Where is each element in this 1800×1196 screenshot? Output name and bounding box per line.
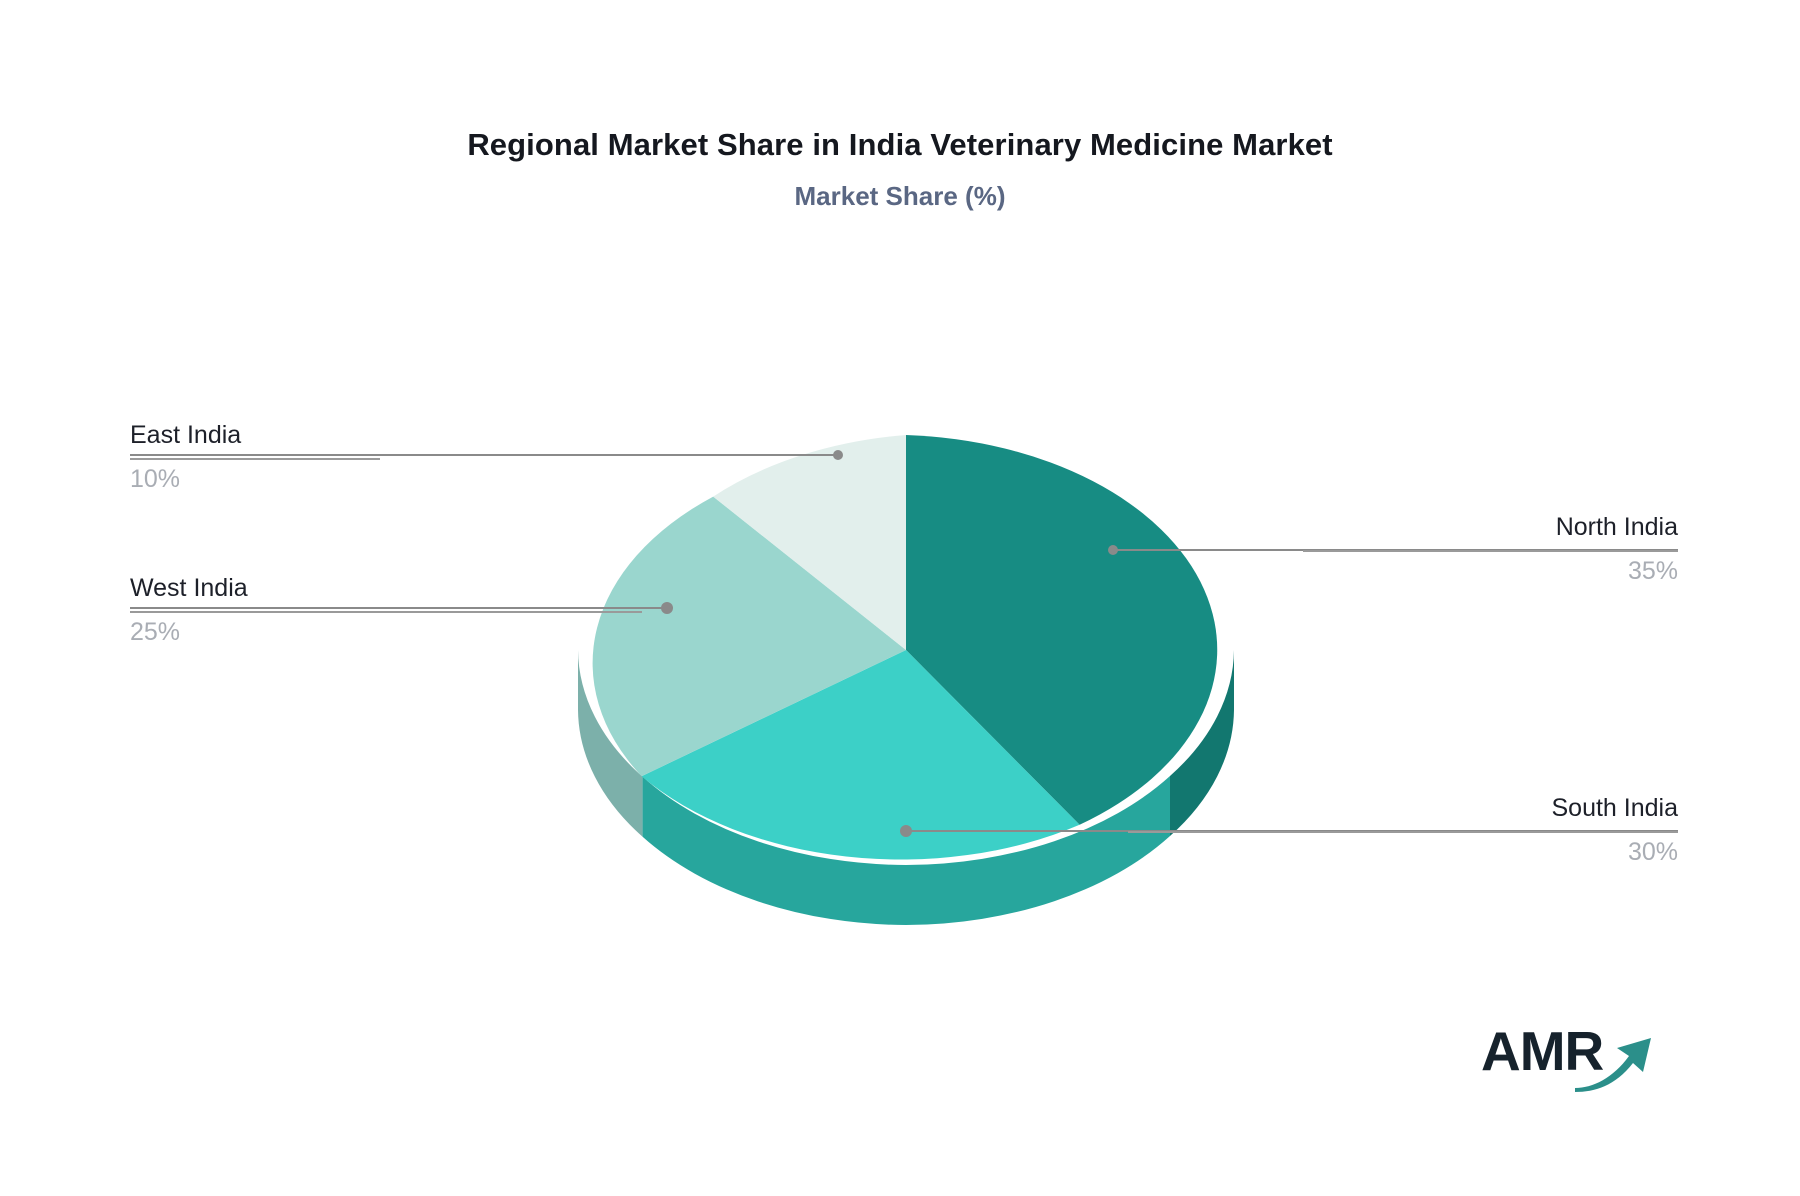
- leader-dot-east-india: [833, 450, 843, 460]
- leader-dot-north-india: [1108, 545, 1118, 555]
- callout-rule-north-india: [1303, 550, 1678, 552]
- callout-value-south-india: 30%: [1128, 837, 1678, 868]
- callout-value-north-india: 35%: [1303, 556, 1678, 587]
- pie-chart-figure: Regional Market Share in India Veterinar…: [0, 0, 1800, 1196]
- callout-label-south-india: South India: [1128, 793, 1678, 824]
- callout-rule-south-india: [1128, 831, 1678, 833]
- callout-east-india: East India 10%: [130, 420, 380, 496]
- growth-arrow-icon: [1573, 1030, 1655, 1092]
- callout-label-west-india: West India: [130, 573, 642, 604]
- callout-west-india: West India 25%: [130, 573, 642, 649]
- amr-logo: AMR: [1481, 1024, 1656, 1094]
- callout-value-east-india: 10%: [130, 464, 380, 495]
- callout-rule-east-india: [130, 458, 380, 460]
- callout-value-west-india: 25%: [130, 617, 642, 648]
- leader-dot-west-india: [661, 602, 673, 614]
- callout-label-north-india: North India: [1303, 512, 1678, 543]
- callout-south-india: South India 30%: [1128, 793, 1678, 869]
- callout-label-east-india: East India: [130, 420, 380, 451]
- callout-rule-west-india: [130, 611, 642, 613]
- callout-north-india: North India 35%: [1303, 512, 1678, 588]
- pie-top-face: [593, 435, 1218, 860]
- leader-dot-south-india: [900, 825, 912, 837]
